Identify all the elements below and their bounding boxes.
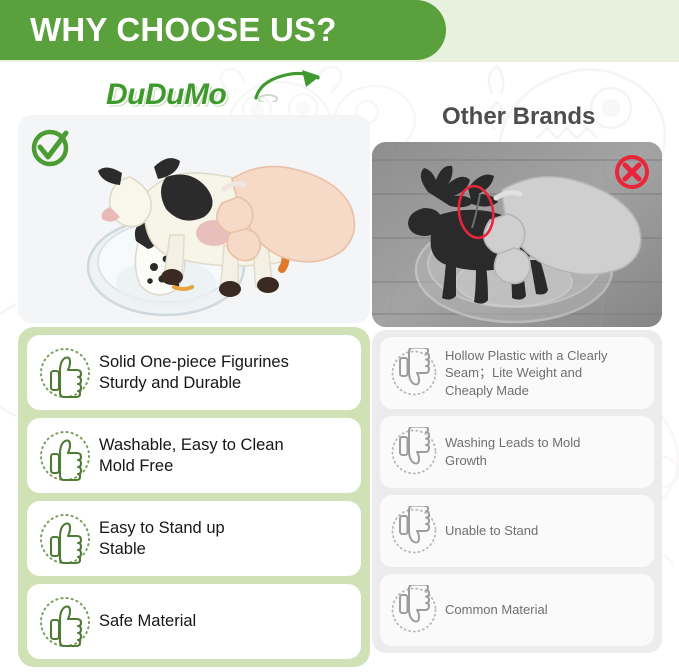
thumbs-up-icon <box>37 594 93 650</box>
list-item[interactable]: Solid One-piece Figurines Sturdy and Dur… <box>27 335 361 410</box>
thumbs-down-icon <box>389 427 439 477</box>
list-item[interactable]: Unable to Stand <box>380 495 654 567</box>
our-brand-column: Solid One-piece Figurines Sturdy and Dur… <box>18 115 370 661</box>
our-brand-feature-list: Solid One-piece Figurines Sturdy and Dur… <box>18 327 370 667</box>
other-brands-photo <box>372 142 662 327</box>
header-banner: WHY CHOOSE US? <box>0 0 446 60</box>
thumbs-down-icon <box>389 506 439 556</box>
list-item-text: Washing Leads to Mold Growth <box>445 434 580 469</box>
list-item-text: Safe Material <box>99 611 196 632</box>
list-item[interactable]: Washing Leads to Mold Growth <box>380 416 654 488</box>
thumbs-up-icon <box>37 511 93 567</box>
list-item[interactable]: Washable, Easy to Clean Mold Free <box>27 418 361 493</box>
list-item[interactable]: Common Material <box>380 574 654 646</box>
brand-logo-text: DuDuMo <box>106 78 226 111</box>
thumbs-down-icon <box>389 585 439 635</box>
page-title: WHY CHOOSE US? <box>0 11 337 49</box>
list-item[interactable]: Easy to Stand up Stable <box>27 501 361 576</box>
list-item-text: Washable, Easy to Clean Mold Free <box>99 435 284 477</box>
brand-logo: DuDuMo <box>106 78 306 118</box>
other-brands-column: Hollow Plastic with a Clearly Seam；Lite … <box>372 142 662 660</box>
other-brands-feature-list: Hollow Plastic with a Clearly Seam；Lite … <box>372 330 662 653</box>
swoosh-arrow-icon <box>254 68 324 102</box>
check-circle-icon <box>26 123 74 171</box>
our-brand-photo <box>18 115 370 323</box>
list-item-text: Solid One-piece Figurines Sturdy and Dur… <box>99 352 289 394</box>
list-item[interactable]: Safe Material <box>27 584 361 659</box>
list-item-text: Common Material <box>445 601 548 619</box>
cross-circle-icon <box>611 150 653 192</box>
list-item[interactable]: Hollow Plastic with a Clearly Seam；Lite … <box>380 337 654 409</box>
list-item-text: Easy to Stand up Stable <box>99 518 225 560</box>
thumbs-up-icon <box>37 345 93 401</box>
thumbs-up-icon <box>37 428 93 484</box>
thumbs-down-icon <box>389 348 439 398</box>
list-item-text: Unable to Stand <box>445 522 538 540</box>
list-item-text: Hollow Plastic with a Clearly Seam；Lite … <box>445 347 608 400</box>
other-brands-heading: Other Brands <box>442 103 595 131</box>
